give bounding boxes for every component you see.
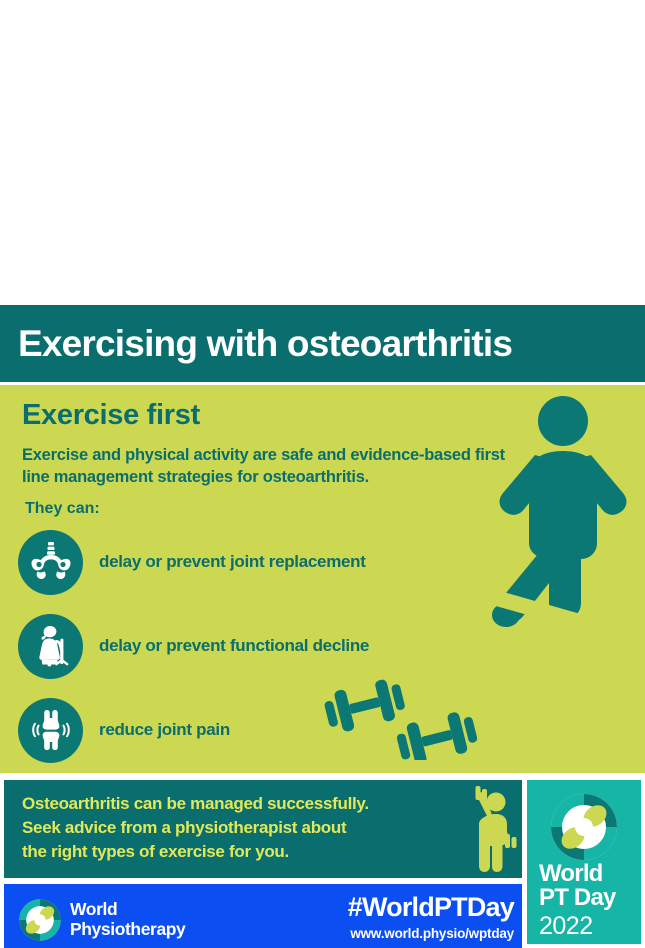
world-pt-day-pinwheel-logo [549,792,619,867]
blank-top-area [0,0,645,305]
section-intro-text: Exercise and physical activity are safe … [22,445,532,489]
world-pt-day-title-line-1: World [539,862,616,886]
section-lead-in-text: They can: [25,500,100,518]
campaign-hashtag: #WorldPTDay [348,892,514,923]
world-pt-day-title: World PT Day [539,862,616,911]
benefits-list: delay or prevent joint replacement [18,528,488,773]
list-item: reduce joint pain [18,696,488,764]
key-message-band: Osteoarthritis can be managed successful… [4,780,522,878]
list-item: delay or prevent joint replacement [18,528,488,596]
key-message-line-3: the right types of exercise for you. [22,840,472,864]
list-item: delay or prevent functional decline [18,612,488,680]
key-message-line-1: Osteoarthritis can be managed successful… [22,792,472,816]
world-pt-day-badge: World PT Day 2022 [527,780,641,944]
page-title: Exercising with osteoarthritis [18,323,512,365]
world-physiotherapy-name-line-2: Physiotherapy [70,920,185,940]
campaign-url[interactable]: www.world.physio/wptday [350,926,514,941]
footer-bar: World Physiotherapy #WorldPTDay www.worl… [4,884,522,948]
poster-title-band: Exercising with osteoarthritis [0,305,645,382]
world-physiotherapy-name-line-1: World [70,900,185,920]
world-physiotherapy-name: World Physiotherapy [70,900,185,939]
key-message-line-2: Seek advice from a physiotherapist about [22,816,472,840]
key-message-text: Osteoarthritis can be managed successful… [22,792,472,864]
person-lifting-dumbbells-icon [466,784,518,878]
pelvis-bone-icon [18,530,83,595]
world-pt-day-year: 2022 [539,912,593,941]
list-item-label: reduce joint pain [99,720,230,740]
world-pt-day-title-line-2: PT Day [539,886,616,910]
main-content-panel: Exercise first Exercise and physical act… [0,385,645,773]
elderly-person-with-cane-icon [18,614,83,679]
exercising-person-with-resistance-band-icon [477,393,637,648]
world-physiotherapy-pinwheel-logo [18,898,62,947]
list-item-label: delay or prevent joint replacement [99,552,366,572]
knee-joint-pain-icon [18,698,83,763]
list-item-label: delay or prevent functional decline [99,636,369,656]
section-heading: Exercise first [22,399,200,432]
